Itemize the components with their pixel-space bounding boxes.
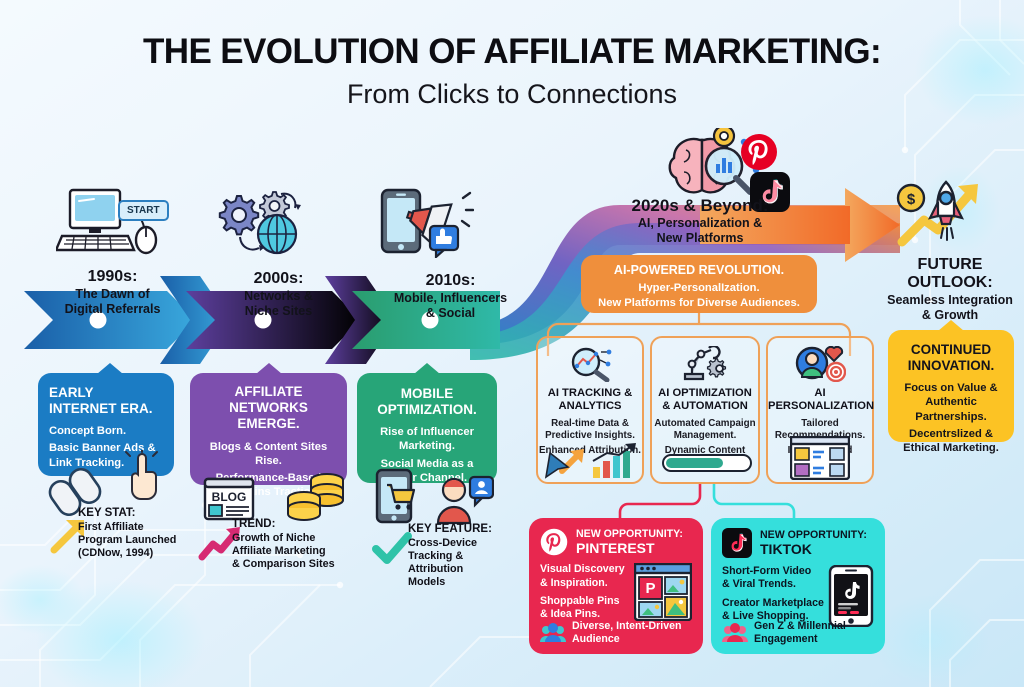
tiktok-phone-icon xyxy=(828,565,874,627)
ai-subcard-tracking-analytics: AI TRACKING & ANALYTICS Real-time Data &… xyxy=(536,336,644,484)
era-desc-2000s: Networks & Niche Sites xyxy=(196,289,361,319)
svg-text:BLOG: BLOG xyxy=(212,490,247,504)
blog-window-icon: BLOG xyxy=(203,477,255,521)
annotation-key-stat-1990s: KEY STAT: First Affiliate Program Launch… xyxy=(78,507,198,560)
annotation-trend-2000s: TREND: Growth of Niche Affiliate Marketi… xyxy=(232,518,367,571)
checkmark-icon xyxy=(371,530,413,568)
page-title: THE EVOLUTION OF AFFILIATE MARKETING: xyxy=(0,34,1024,71)
era-card-2010s: MOBILE OPTIMIZATION. Rise of Influencer … xyxy=(357,373,497,483)
annotation-text: Cross-Device Tracking & Attribution Mode… xyxy=(408,537,526,590)
pinterest-logo-icon xyxy=(740,133,778,171)
opportunity-kicker: NEW OPPORTUNITY: xyxy=(576,528,683,540)
era-heading-2010s: 2010s: Mobile, Influencers & Social xyxy=(368,272,533,321)
pinterest-board-icon: P xyxy=(634,563,692,621)
opportunity-card-tiktok: NEW OPPORTUNITY: TIKTOK Short-Form Video… xyxy=(711,518,885,654)
robot-arm-gear-icon xyxy=(681,346,729,382)
future-card: CONTINUED INNOVATION. Focus on Value & A… xyxy=(888,330,1014,442)
ai-subcard-personalization: AI PERSONALIZATION Tailored Recommendati… xyxy=(766,336,874,484)
annotation-text: Growth of Niche Affiliate Marketing & Co… xyxy=(232,532,367,572)
era-heading-1990s: 1990s: The Dawn of Digital Referrals xyxy=(30,268,195,317)
annotation-text: First Affiliate Program Launched (CDNow,… xyxy=(78,521,198,561)
tiktok-logo-icon xyxy=(722,528,752,558)
ai-card-heading: AI PERSONALIZATION xyxy=(768,387,872,414)
annotation-label: KEY STAT: xyxy=(78,507,198,521)
audience-group-icon xyxy=(722,623,748,643)
era-heading-future: FUTURE OUTLOOK: Seamless Integration & G… xyxy=(880,256,1020,323)
era-year-2000s: 2000s: xyxy=(196,270,361,288)
future-title: FUTURE OUTLOOK: xyxy=(880,256,1020,292)
annotation-key-feature-2010s: KEY FEATURE: Cross-Device Tracking & Att… xyxy=(408,523,526,589)
future-desc: Seamless Integration & Growth xyxy=(880,293,1020,323)
card-nub xyxy=(414,363,440,374)
opportunity-name: PINTEREST xyxy=(576,540,683,556)
era-card-2000s: AFFILIATE NETWORKS EMERGE. Blogs & Conte… xyxy=(190,373,347,485)
era-year-1990s: 1990s: xyxy=(30,268,195,286)
opportunity-line-1: Visual Discovery & Inspiration. xyxy=(540,563,631,590)
pinterest-logo-icon xyxy=(540,528,568,556)
opportunity-footer: Diverse, Intent-Driven Audience xyxy=(572,620,682,646)
svg-text:P: P xyxy=(645,580,655,597)
mobile-shopping-icon xyxy=(373,468,419,524)
card-heading: MOBILE OPTIMIZATION. xyxy=(365,386,489,418)
card-heading: AI-POWERED REVOLUTION. xyxy=(587,263,811,278)
start-badge: START xyxy=(118,200,169,221)
card-heading: AFFILIATE NETWORKS EMERGE. xyxy=(198,384,339,433)
era-year-2010s: 2010s: xyxy=(368,272,533,290)
card-heading: CONTINUED INNOVATION. xyxy=(895,342,1007,374)
opportunity-line-2: Shoppable Pins & Idea Pins. xyxy=(540,595,631,622)
era-desc-2020s: AI, Personalization & New Platforms xyxy=(600,216,800,246)
era-heading-2020s: 2020s & Beyond: AI, Personalization & Ne… xyxy=(600,196,800,246)
coin-stack-icon xyxy=(285,470,347,522)
rocket-money-growth-icon: $ xyxy=(894,176,1000,256)
card-line-1: Concept Born. xyxy=(49,424,163,438)
audience-group-icon xyxy=(540,623,566,643)
card-line-2: Decentrslized & Ethical Marketing. xyxy=(895,427,1007,455)
card-nub xyxy=(256,363,282,374)
desktop-computer-icon xyxy=(56,188,166,256)
opportunity-kicker: NEW OPPORTUNITY: xyxy=(760,529,867,541)
card-line-1: Rise of Influencer Marketing. xyxy=(365,425,489,453)
opportunity-card-pinterest: NEW OPPORTUNITY: PINTEREST Visual Discov… xyxy=(529,518,703,654)
card-line-1: Hyper-PersonalIzation. xyxy=(587,281,811,295)
card-line-2: New Platforms for Diverse Audiences. xyxy=(587,296,811,310)
card-nub xyxy=(97,363,123,374)
layout-grid-window-icon xyxy=(790,436,850,480)
ai-card-line-1: Automated Campaign Management. xyxy=(652,418,758,443)
opportunity-footer: Gen Z & Millennial Engagement xyxy=(754,620,846,646)
gears-globe-icon xyxy=(215,190,307,256)
title-block: THE EVOLUTION OF AFFILIATE MARKETING: Fr… xyxy=(0,34,1024,109)
ai-card-heading: AI OPTIMIZATION & AUTOMATION xyxy=(652,387,758,414)
pointing-hand-icon xyxy=(124,450,168,504)
bar-chart-growth-icon xyxy=(589,443,639,479)
era-heading-2000s: 2000s: Networks & Niche Sites xyxy=(196,270,361,319)
opportunity-name: TIKTOK xyxy=(760,541,867,557)
ai-subcard-optimization-automation: AI OPTIMIZATION & AUTOMATION Automated C… xyxy=(650,336,760,484)
annotation-label: KEY FEATURE: xyxy=(408,523,526,537)
svg-text:$: $ xyxy=(907,191,916,208)
opportunity-line-1: Short-Form Video & Viral Trends. xyxy=(722,565,825,592)
magnifier-analytics-icon xyxy=(567,346,613,382)
influencer-avatar-icon xyxy=(432,475,494,525)
era-year-2020s: 2020s & Beyond: xyxy=(600,196,800,215)
progress-bar-icon xyxy=(662,454,752,472)
phone-megaphone-icon xyxy=(378,188,474,258)
ai-card-line-1: Real-time Data & Predictive Insights. xyxy=(538,418,642,443)
era-card-2020s: AI-POWERED REVOLUTION. Hyper-PersonalIza… xyxy=(581,255,817,313)
ai-card-heading: AI TRACKING & ANALYTICS xyxy=(538,387,642,414)
card-line-1: Focus on Value & Authentic Partnerships. xyxy=(895,381,1007,423)
card-line-1: Blogs & Content Sites Rise. xyxy=(198,440,339,468)
era-desc-1990s: The Dawn of Digital Referrals xyxy=(30,287,195,317)
era-desc-2010s: Mobile, Influencers & Social xyxy=(368,291,533,321)
annotation-label: TREND: xyxy=(232,518,367,532)
card-heading: EARLY INTERNET ERA. xyxy=(49,385,163,417)
page-subtitle: From Clicks to Connections xyxy=(0,80,1024,110)
cursor-arrow-icon xyxy=(542,441,588,479)
person-heart-target-icon xyxy=(794,346,846,382)
